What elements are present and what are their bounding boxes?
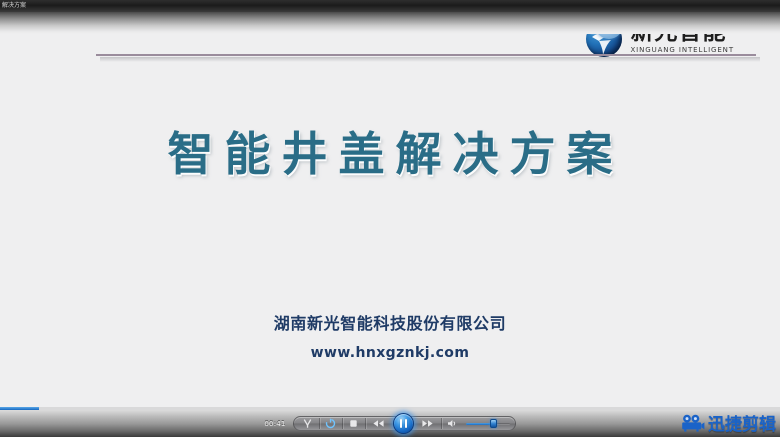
pen-annotate-icon[interactable] bbox=[297, 417, 319, 430]
fast-forward-icon[interactable] bbox=[415, 417, 441, 430]
volume-glyph bbox=[447, 419, 458, 428]
pause-bar-left bbox=[400, 419, 402, 428]
volume-fill bbox=[466, 423, 493, 425]
volume-knob[interactable] bbox=[490, 419, 497, 428]
rewind-icon[interactable] bbox=[366, 417, 392, 430]
header-divider-shadow bbox=[100, 57, 760, 62]
fast-forward-glyph bbox=[421, 419, 434, 428]
pause-icon[interactable] bbox=[393, 413, 414, 434]
player-controls-row: 00:41 bbox=[0, 410, 780, 437]
transport-button-cluster bbox=[293, 416, 516, 431]
watermark: 迅捷剪辑 bbox=[681, 410, 776, 435]
volume-icon[interactable] bbox=[442, 417, 464, 430]
company-name: 湖南新光智能科技股份有限公司 bbox=[8, 310, 772, 334]
window-title-text: 解决方案 bbox=[2, 1, 26, 10]
brand-name-en: XINGUANG INTELLIGENT bbox=[630, 47, 734, 54]
stop-icon[interactable] bbox=[343, 417, 365, 430]
rewind-glyph bbox=[372, 419, 385, 428]
elapsed-time-label: 00:41 bbox=[264, 420, 285, 428]
company-block: 湖南新光智能科技股份有限公司 www.hnxgznkj.com bbox=[8, 310, 772, 361]
presentation-viewer: 解决方案 00:41 新光智能 XINGUANG INTELLI bbox=[0, 0, 780, 437]
company-url: www.hnxgznkj.com bbox=[8, 345, 772, 361]
media-player-bar: 00:41 bbox=[0, 407, 780, 437]
slide-title: 智能井盖解决方案 bbox=[8, 118, 772, 184]
header-divider bbox=[96, 54, 756, 56]
slide-canvas: 00:41 新光智能 XINGUANG INTELLIGENT 智能井盖解决方案… bbox=[8, 0, 772, 410]
volume-slider[interactable] bbox=[464, 417, 512, 430]
loop-repeat-glyph bbox=[325, 418, 336, 429]
pause-glyph bbox=[400, 419, 407, 428]
watermark-text: 迅捷剪辑 bbox=[708, 410, 776, 435]
film-camera-icon bbox=[681, 414, 705, 432]
window-titlebar: 解决方案 bbox=[0, 0, 780, 12]
stop-glyph bbox=[349, 419, 358, 428]
loop-repeat-icon[interactable] bbox=[320, 417, 342, 430]
titlebar-gradient-fade bbox=[0, 12, 780, 34]
pen-annotate-glyph bbox=[303, 419, 312, 429]
pause-bar-right bbox=[405, 419, 407, 428]
